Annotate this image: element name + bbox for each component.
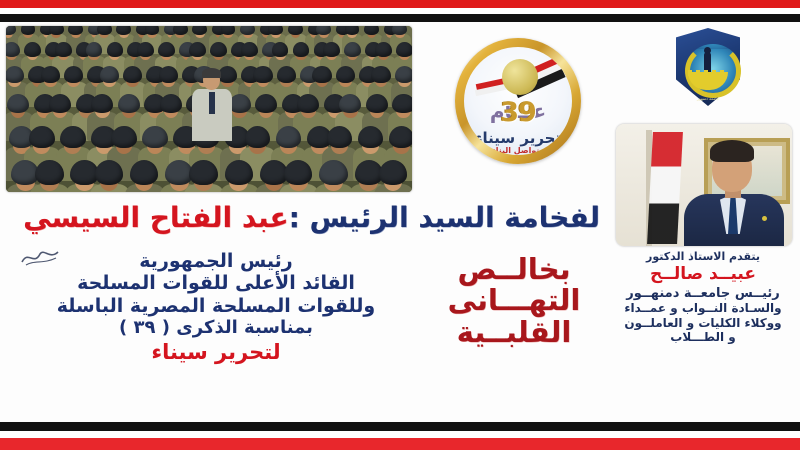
flag-stripe-black [0,14,800,22]
medal-title: تحرير سيناء [464,129,572,147]
sender-title-line-4: و الطـــلاب [606,330,800,344]
egypt-flag-icon [647,132,683,244]
sender-prefix: يتقدم الاستاذ الدكتور [606,250,800,263]
flag-stripe-red [0,0,800,8]
medal-globe-icon [502,59,538,95]
anniversary-subject-line: لتحرير سيناء [20,340,412,365]
portrait-lapel-pin [762,216,767,221]
portrait-hair [710,140,754,162]
congratulations-block: بخالــص التهـــانى القلبــية [424,254,604,348]
congratulations-line-3: القلبــية [424,317,604,348]
main-headline: لفخامة السيد الرئيس : عبد الفتاح السيسي [0,196,612,238]
egypt-flag-bottom-border [0,422,800,450]
signature-scribble-icon [20,246,62,268]
university-shield-logo: جامعة دمنهور [676,28,740,106]
sinai-39-anniversary-logo: عـــام 39 تحرير سيناء ونواصل البناء [455,38,581,164]
egypt-flag-top-border [0,0,800,22]
medal-subtitle: ونواصل البناء [464,146,572,155]
sender-title-line-3: ووكلاء الكليات و العاملــون [606,316,800,330]
shield-caption: جامعة دمنهور [676,96,740,101]
recipient-titles-block: رئيس الجمهورية القائد الأعلى للقوات المس… [20,250,412,365]
medal-year-number: 39 [464,97,572,128]
flag-stripe-white [0,431,800,438]
congratulations-line-1: بخالــص [424,254,604,285]
recipient-title-line-1: رئيس الجمهورية [20,250,412,272]
flag-stripe-red [0,438,800,450]
university-president-photo [616,124,792,246]
president-in-photo [192,70,232,140]
suit-hair [202,68,221,78]
congratulations-line-2: التهـــانى [424,285,604,316]
sender-title-line-1: رئيــس جامعــة دمنهــور [606,286,800,302]
headline-president-name: عبد الفتاح السيسي [23,201,288,234]
anniversary-occasion-line: بمناسبة الذكرى ( ٣٩ ) [20,317,412,338]
sender-name: عبيــد صالــح [606,264,800,284]
suit-tie [209,92,215,114]
headline-prefix: لفخامة السيد الرئيس : [289,201,612,234]
sender-title-line-2: والسـادة النــواب و عمــداء [606,301,800,315]
recipient-title-line-2: القائد الأعلى للقوات المسلحة [20,272,412,294]
flag-stripe-black [0,422,800,431]
soldiers-group-photo [6,26,412,192]
recipient-title-line-3: وللقوات المسلحة المصرية الباسلة [20,295,412,317]
sender-block: يتقدم الاستاذ الدكتور عبيــد صالــح رئيـ… [606,250,800,344]
greeting-banner: عـــام 39 تحرير سيناء ونواصل البناء جامع… [0,0,800,450]
medal-inner-face: عـــام 39 تحرير سيناء ونواصل البناء [464,47,572,155]
